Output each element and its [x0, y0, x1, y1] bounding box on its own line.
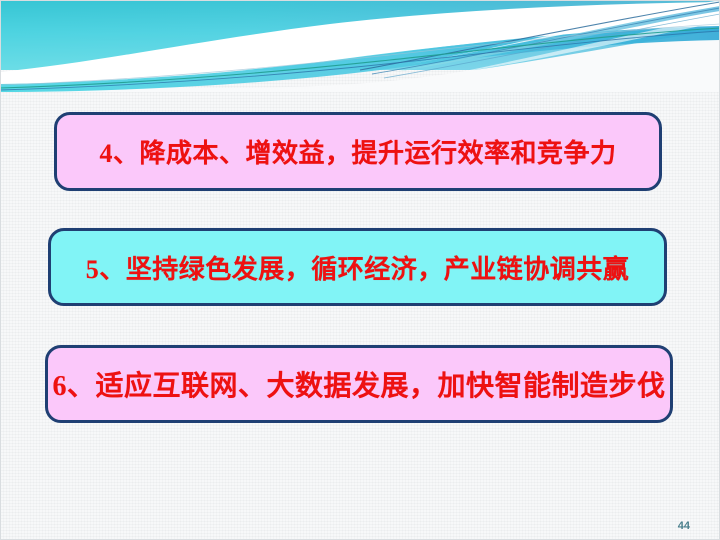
callout-box-4: 4、降成本、增效益，提升运行效率和竞争力 [54, 112, 662, 191]
page-number: 44 [678, 520, 690, 532]
callout-box-5: 5、坚持绿色发展，循环经济，产业链协调共赢 [48, 228, 667, 306]
callout-box-6: 6、适应互联网、大数据发展，加快智能制造步伐 [45, 345, 673, 423]
callout-list: 4、降成本、增效益，提升运行效率和竞争力 5、坚持绿色发展，循环经济，产业链协调… [0, 0, 720, 540]
presentation-slide: 4、降成本、增效益，提升运行效率和竞争力 5、坚持绿色发展，循环经济，产业链协调… [0, 0, 720, 540]
